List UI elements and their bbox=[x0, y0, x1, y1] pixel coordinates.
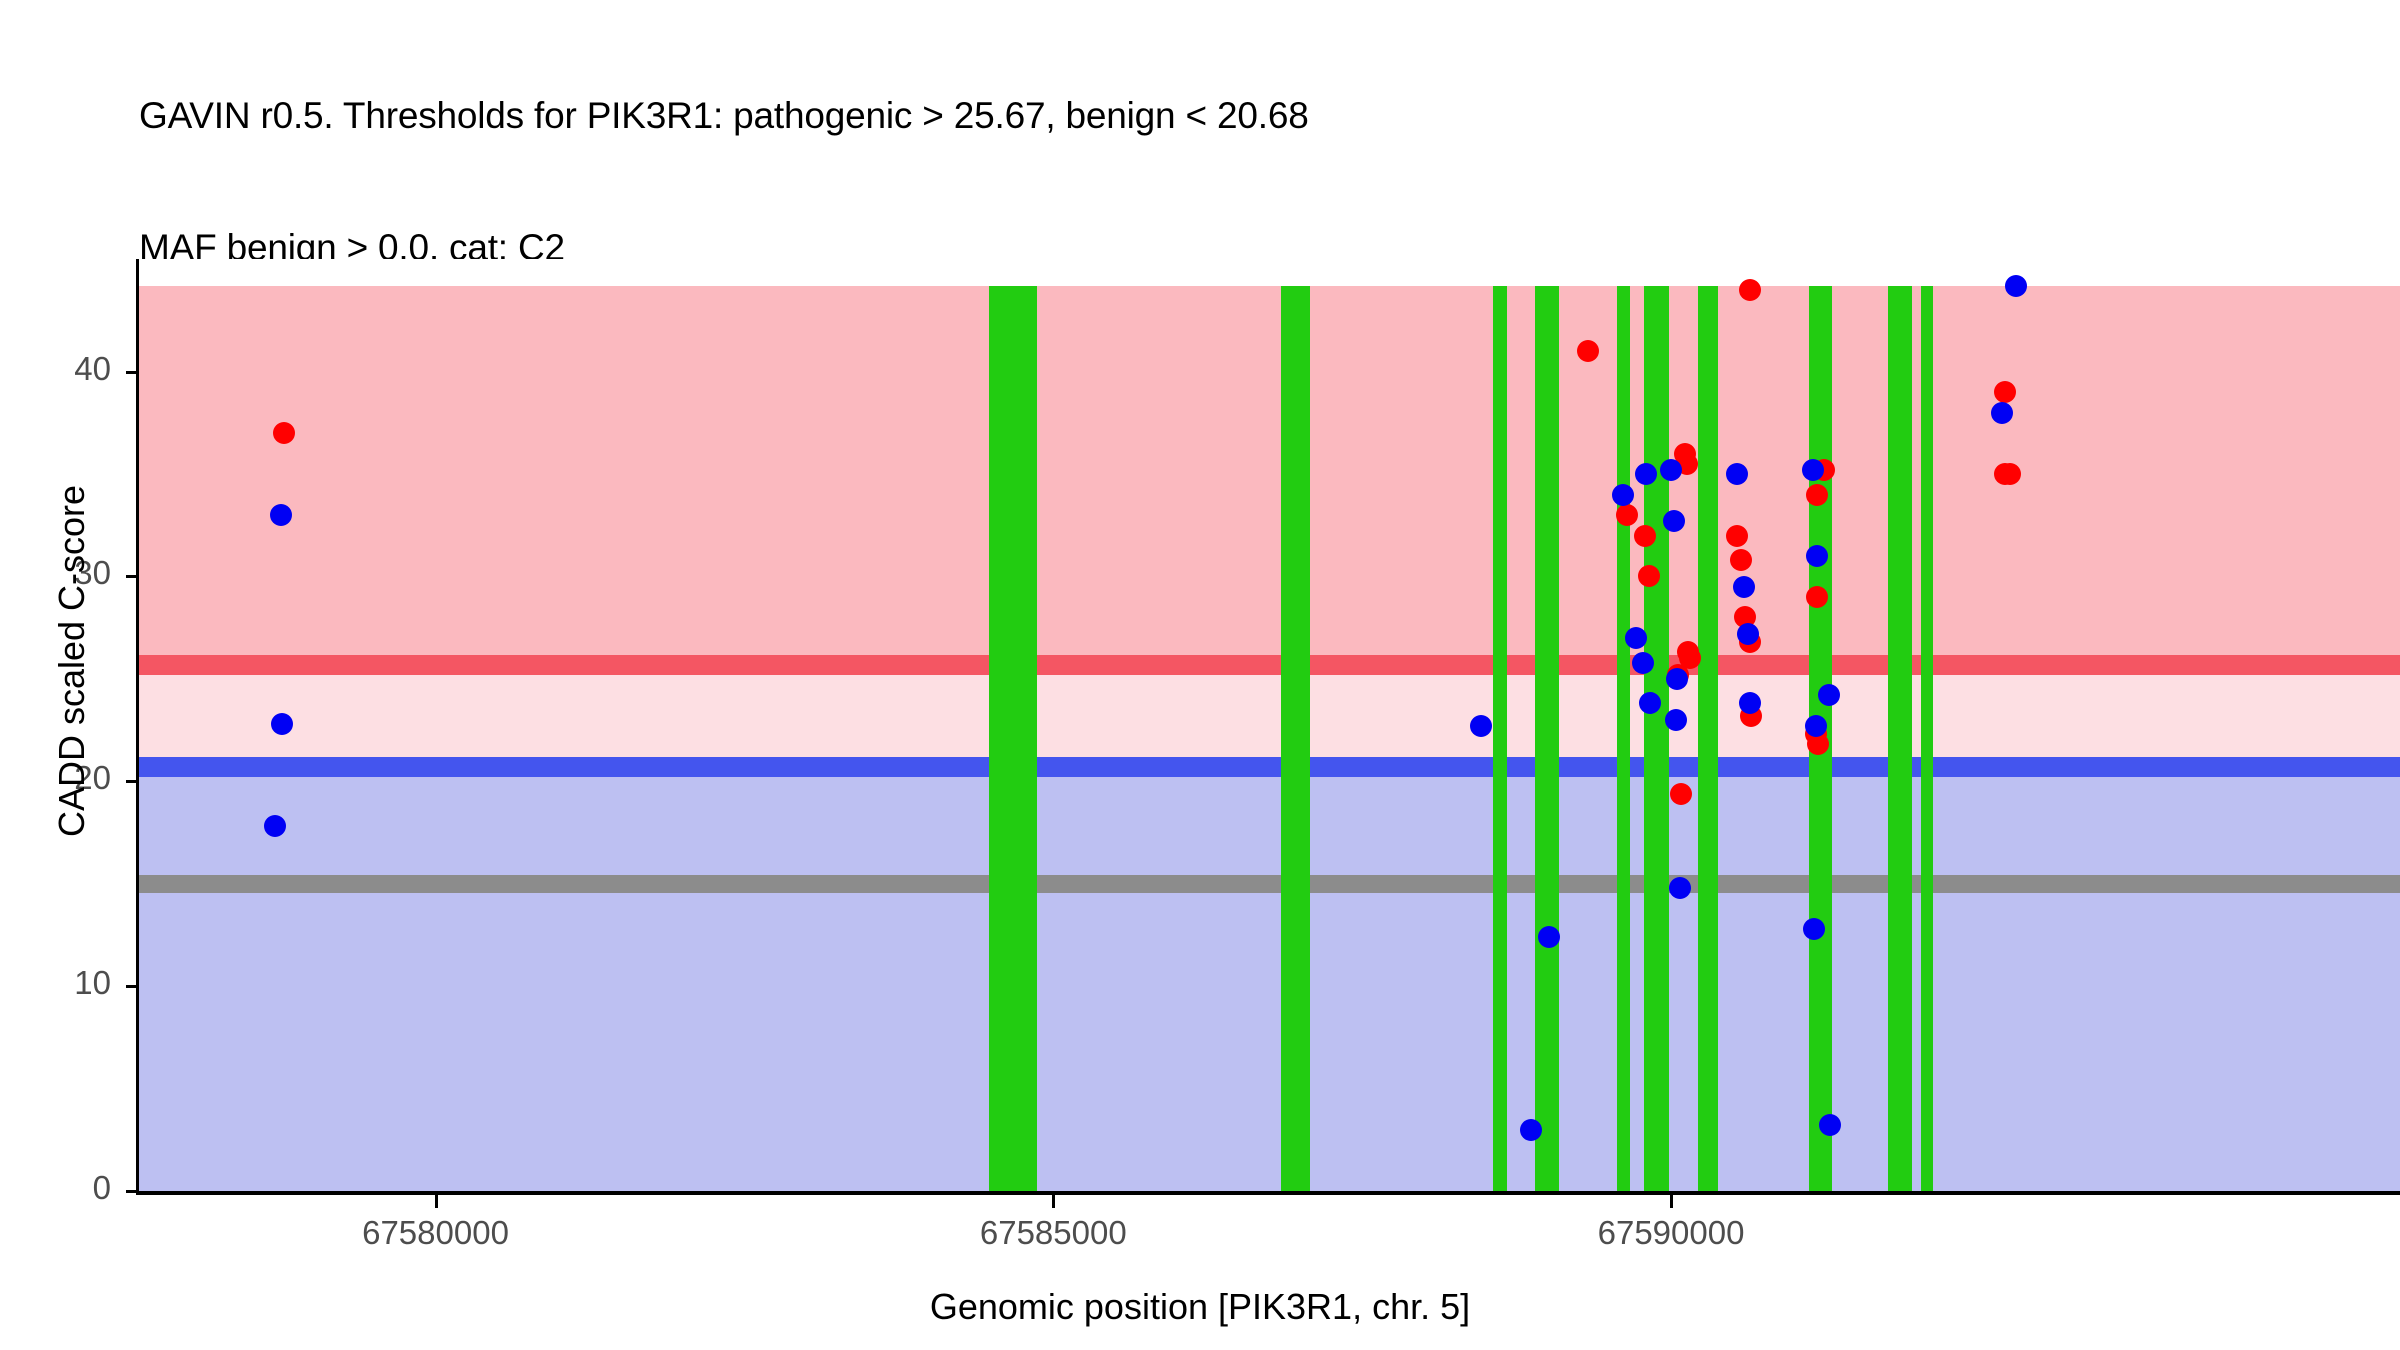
data-point-gnomad bbox=[1991, 402, 2013, 424]
data-point-gnomad bbox=[1733, 576, 1755, 598]
data-point-gnomad bbox=[1612, 484, 1634, 506]
y-axis-tick bbox=[126, 780, 139, 783]
data-point-gnomad bbox=[1806, 545, 1828, 567]
data-point-gnomad bbox=[1669, 877, 1691, 899]
benign-threshold-line bbox=[139, 757, 2400, 777]
data-point-pathogenic bbox=[1806, 586, 1828, 608]
refseq-exon-band bbox=[1921, 286, 1933, 1191]
y-axis-title: CADD scaled C-score bbox=[51, 401, 93, 921]
refseq-exon-band bbox=[1493, 286, 1507, 1191]
refseq-exon-band bbox=[1535, 286, 1558, 1191]
data-point-pathogenic bbox=[273, 422, 295, 444]
shaded-region-vus bbox=[139, 665, 2400, 767]
data-point-gnomad bbox=[1805, 715, 1827, 737]
pathogenic-threshold-line bbox=[139, 655, 2400, 675]
refseq-exon-band bbox=[1617, 286, 1631, 1191]
data-point-gnomad bbox=[1665, 709, 1687, 731]
x-axis-tick-label: 67580000 bbox=[286, 1214, 586, 1252]
data-point-gnomad bbox=[1737, 623, 1759, 645]
data-point-pathogenic bbox=[1616, 504, 1638, 526]
refseq-exon-band bbox=[989, 286, 1037, 1191]
data-point-pathogenic bbox=[1634, 525, 1656, 547]
gavin-cadd-scatter-figure: GAVIN r0.5. Thresholds for PIK3R1: patho… bbox=[0, 0, 2400, 1350]
data-point-gnomad bbox=[1802, 459, 1824, 481]
data-point-gnomad bbox=[1663, 510, 1685, 532]
data-point-pathogenic bbox=[1994, 381, 2016, 403]
data-point-gnomad bbox=[1632, 652, 1654, 674]
shaded-region-pathogenic bbox=[139, 286, 2400, 666]
data-point-gnomad bbox=[1660, 459, 1682, 481]
y-axis-tick-label: 10 bbox=[0, 964, 111, 1002]
y-axis-tick bbox=[126, 985, 139, 988]
data-point-gnomad bbox=[270, 504, 292, 526]
y-axis-tick bbox=[126, 575, 139, 578]
x-axis-tick bbox=[1670, 1195, 1673, 1208]
data-point-pathogenic bbox=[1806, 484, 1828, 506]
data-point-gnomad bbox=[2005, 275, 2027, 297]
y-axis-tick-label: 0 bbox=[0, 1169, 111, 1207]
y-axis-tick bbox=[126, 371, 139, 374]
data-point-gnomad bbox=[1470, 715, 1492, 737]
y-axis-tick-label: 40 bbox=[0, 350, 111, 388]
x-axis-tick-label: 67590000 bbox=[1521, 1214, 1821, 1252]
x-axis-tick bbox=[1052, 1195, 1055, 1208]
refseq-exon-band bbox=[1281, 286, 1311, 1191]
x-axis-title: Genomic position [PIK3R1, chr. 5] bbox=[0, 1286, 2400, 1328]
x-axis-line bbox=[136, 1191, 2400, 1195]
data-point-gnomad bbox=[1726, 463, 1748, 485]
x-axis-tick bbox=[435, 1195, 438, 1208]
refseq-exon-band bbox=[1888, 286, 1911, 1191]
data-point-gnomad bbox=[1520, 1119, 1542, 1141]
data-point-gnomad bbox=[1803, 918, 1825, 940]
fallback-threshold-line bbox=[139, 875, 2400, 893]
data-point-pathogenic bbox=[1739, 279, 1761, 301]
refseq-exon-band bbox=[1644, 286, 1669, 1191]
x-axis-tick-label: 67585000 bbox=[903, 1214, 1203, 1252]
y-axis-tick bbox=[126, 1190, 139, 1193]
data-point-pathogenic bbox=[1670, 783, 1692, 805]
data-point-pathogenic bbox=[1999, 463, 2021, 485]
data-point-gnomad bbox=[1538, 926, 1560, 948]
refseq-exon-band bbox=[1698, 286, 1718, 1191]
title-line-1: GAVIN r0.5. Thresholds for PIK3R1: patho… bbox=[139, 94, 2319, 138]
plot-panel bbox=[139, 259, 2400, 1191]
data-point-pathogenic bbox=[1726, 525, 1748, 547]
data-point-gnomad bbox=[1666, 668, 1688, 690]
shaded-region-benign bbox=[139, 767, 2400, 1191]
